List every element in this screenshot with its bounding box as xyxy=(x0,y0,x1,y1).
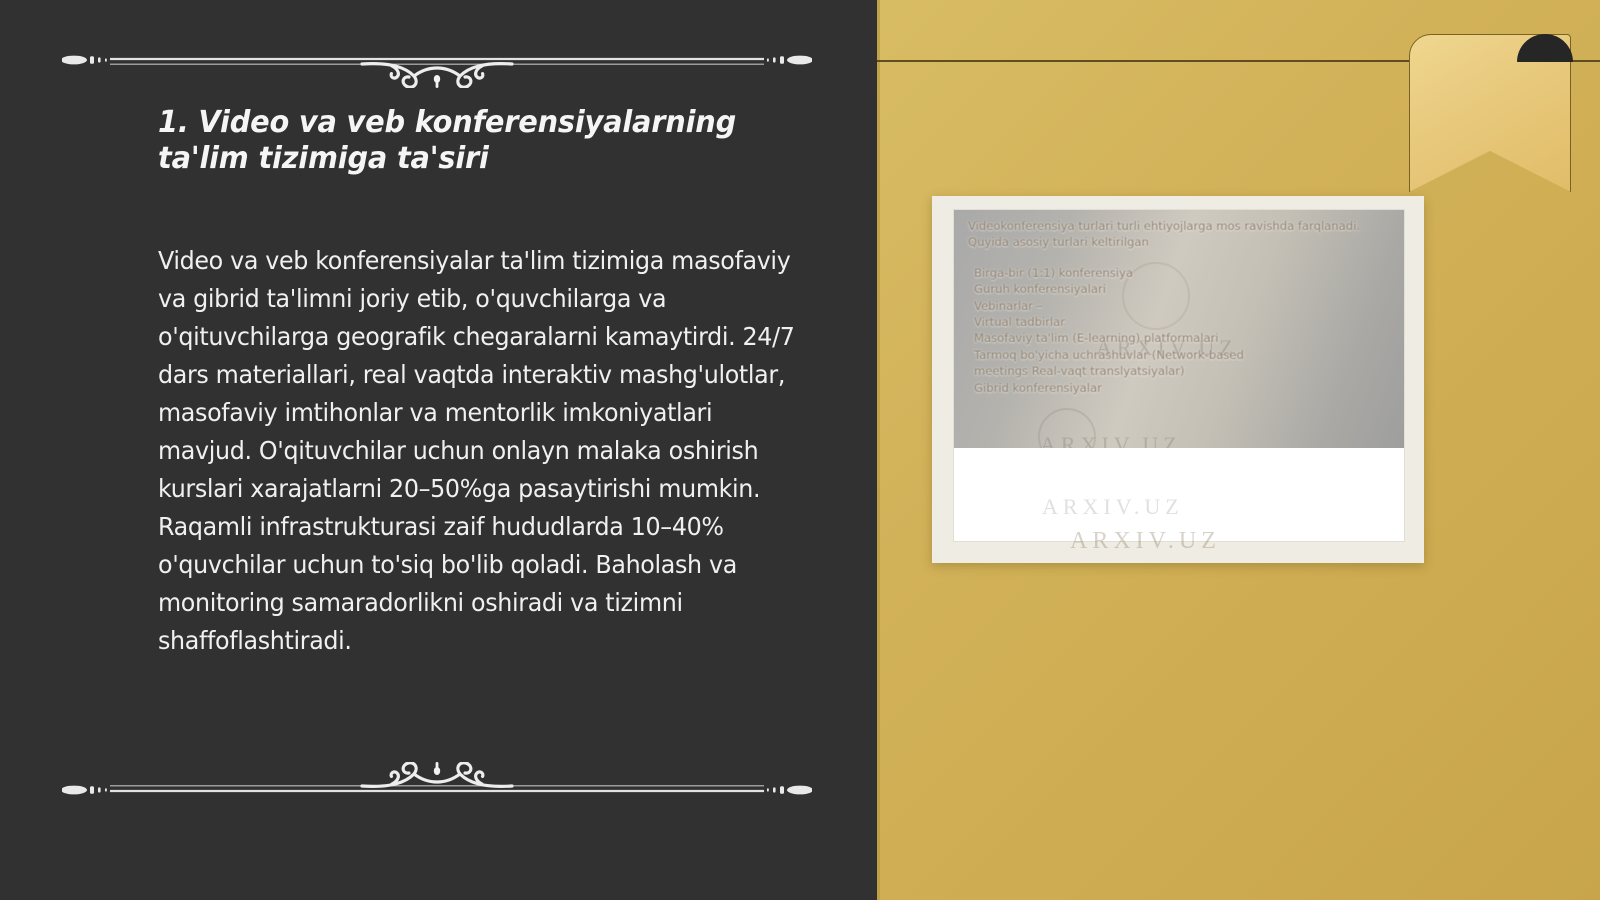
photo-card-inner: ARXIV.UZ ARXIV.UZ Videokonferensiya turl… xyxy=(954,210,1404,541)
watermark-text-below-card: ARXIV.UZ xyxy=(1070,528,1221,555)
page-title: 1. Video va veb konferensiyalarning ta'l… xyxy=(158,105,792,177)
watermark-text: ARXIV.UZ xyxy=(1042,494,1184,520)
slide: ARXIV.UZ ARXIV.UZ Videokonferensiya turl… xyxy=(0,0,1600,900)
list-item: Gibrid konferensiyalar xyxy=(968,380,1398,396)
embedded-slide-intro: Videokonferensiya turlari turli ehtiyojl… xyxy=(968,218,1398,251)
ornament-divider-top xyxy=(62,32,812,88)
list-item: Birga-bir (1:1) konferensiya xyxy=(968,265,1398,281)
left-content-column: 1. Video va veb konferensiyalarning ta'l… xyxy=(0,0,877,900)
embedded-slide-text: Videokonferensiya turlari turli ehtiyojl… xyxy=(968,218,1398,396)
list-item: Vebinarlar – xyxy=(968,298,1398,314)
embedded-slide-list: Birga-bir (1:1) konferensiya Guruh konfe… xyxy=(968,265,1398,396)
list-item: Virtual tadbirlar xyxy=(968,314,1398,330)
list-item: Tarmoq bo'yicha uchrashuvlar (Network-ba… xyxy=(968,347,1398,363)
watermark-ring-icon xyxy=(1038,408,1096,448)
list-item: meetings Real-vaqt translyatsiyalar) xyxy=(968,363,1398,379)
list-item: Masofaviy ta'lim (E-learning) platformal… xyxy=(968,330,1398,346)
photo-card: ARXIV.UZ ARXIV.UZ Videokonferensiya turl… xyxy=(932,196,1424,563)
body-paragraph: Video va veb konferensiyalar ta'lim tizi… xyxy=(158,242,810,660)
ornament-divider-bottom xyxy=(62,762,812,818)
gold-panel-edge xyxy=(877,0,880,900)
list-item: Guruh konferensiyalari xyxy=(968,281,1398,297)
embedded-slide-screenshot: ARXIV.UZ ARXIV.UZ Videokonferensiya turl… xyxy=(954,210,1404,448)
watermark-text: ARXIV.UZ xyxy=(1040,432,1182,448)
